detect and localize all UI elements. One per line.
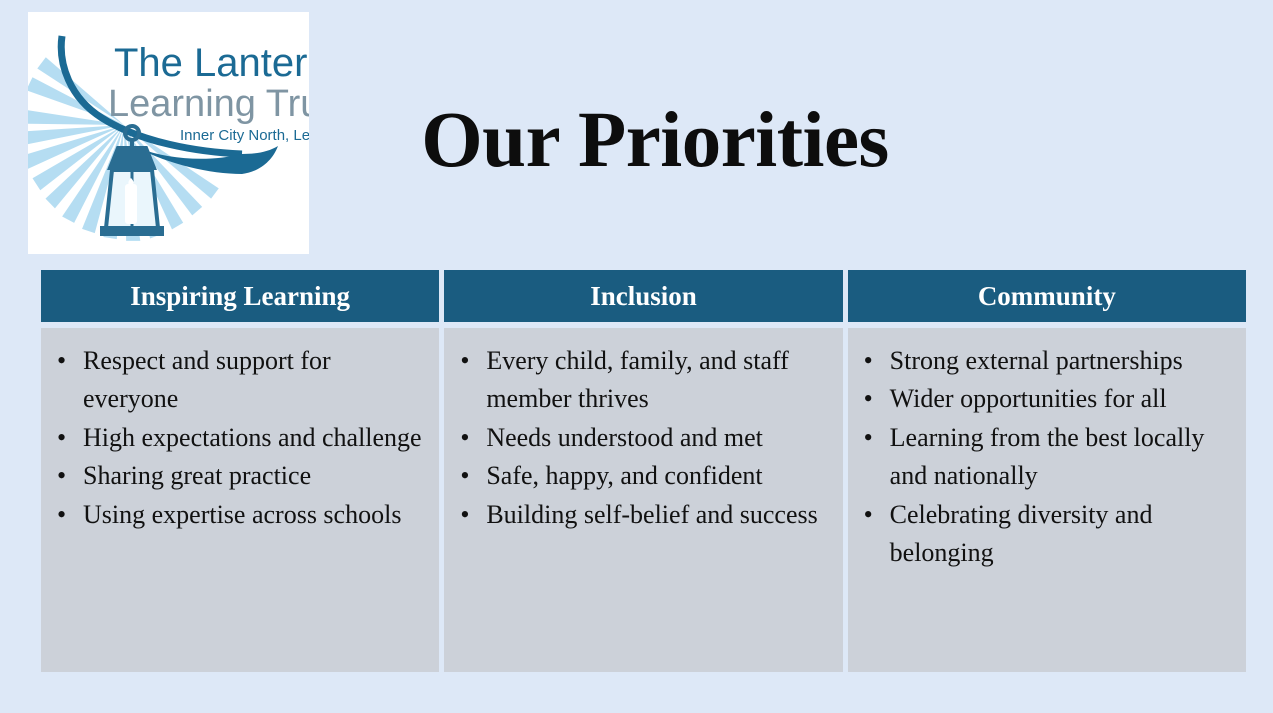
list-item: • High expectations and challenge (53, 419, 429, 457)
list-item-label: Learning from the best locally and natio… (890, 423, 1205, 490)
bullet-icon: • (460, 342, 469, 380)
list-item-label: Needs understood and met (486, 423, 763, 452)
list-item: • Wider opportunities for all (860, 380, 1236, 418)
list-item-label: Building self-belief and success (486, 500, 817, 529)
priority-column-inclusion: Inclusion • Every child, family, and sta… (444, 270, 842, 672)
logo-tagline: Inner City North, Leeds (180, 127, 309, 144)
list-item: • Sharing great practice (53, 457, 429, 495)
list-item: • Needs understood and met (456, 419, 832, 457)
list-item-label: Wider opportunities for all (890, 384, 1167, 413)
bullet-icon: • (864, 419, 873, 457)
bullet-icon: • (460, 419, 469, 457)
bullet-list-community: • Strong external partnerships • Wider o… (860, 342, 1236, 573)
list-item: • Strong external partnerships (860, 342, 1236, 380)
bullet-list-inclusion: • Every child, family, and staff member … (456, 342, 832, 534)
list-item-label: Respect and support for everyone (83, 346, 331, 413)
list-item-label: Safe, happy, and confident (486, 461, 762, 490)
list-item: • Building self-belief and success (456, 496, 832, 534)
column-header-inspiring-learning: Inspiring Learning (41, 270, 439, 322)
list-item-label: High expectations and challenge (83, 423, 422, 452)
column-header-community: Community (848, 270, 1246, 322)
bullet-icon: • (57, 457, 66, 495)
logo-line1: The Lantern (114, 41, 309, 85)
bullet-icon: • (460, 457, 469, 495)
bullet-list-inspiring-learning: • Respect and support for everyone • Hig… (53, 342, 429, 534)
list-item-label: Sharing great practice (83, 461, 311, 490)
logo-line2: Learning Trust (108, 83, 309, 125)
lantern-logo-illustration: The Lantern Learning Trust Inner City No… (28, 12, 309, 254)
list-item: • Celebrating diversity and belonging (860, 496, 1236, 573)
column-body-inspiring-learning: • Respect and support for everyone • Hig… (41, 328, 439, 672)
list-item: • Safe, happy, and confident (456, 457, 832, 495)
list-item: • Respect and support for everyone (53, 342, 429, 419)
bullet-icon: • (460, 496, 469, 534)
page-title: Our Priorities (330, 101, 980, 180)
list-item-label: Strong external partnerships (890, 346, 1183, 375)
column-body-inclusion: • Every child, family, and staff member … (444, 328, 842, 672)
list-item: • Learning from the best locally and nat… (860, 419, 1236, 496)
bullet-icon: • (57, 419, 66, 457)
bullet-icon: • (864, 380, 873, 418)
logo-card: The Lantern Learning Trust Inner City No… (28, 12, 309, 254)
bullet-icon: • (864, 342, 873, 380)
list-item: • Every child, family, and staff member … (456, 342, 832, 419)
list-item-label: Celebrating diversity and belonging (890, 500, 1153, 567)
list-item-label: Using expertise across schools (83, 500, 401, 529)
bullet-icon: • (57, 342, 66, 380)
column-body-community: • Strong external partnerships • Wider o… (848, 328, 1246, 672)
column-header-inclusion: Inclusion (444, 270, 842, 322)
list-item: • Using expertise across schools (53, 496, 429, 534)
priority-column-community: Community • Strong external partnerships… (848, 270, 1246, 672)
priorities-table: Inspiring Learning • Respect and support… (41, 270, 1246, 672)
bullet-icon: • (864, 496, 873, 534)
bullet-icon: • (57, 496, 66, 534)
priority-column-inspiring-learning: Inspiring Learning • Respect and support… (41, 270, 439, 672)
list-item-label: Every child, family, and staff member th… (486, 346, 789, 413)
